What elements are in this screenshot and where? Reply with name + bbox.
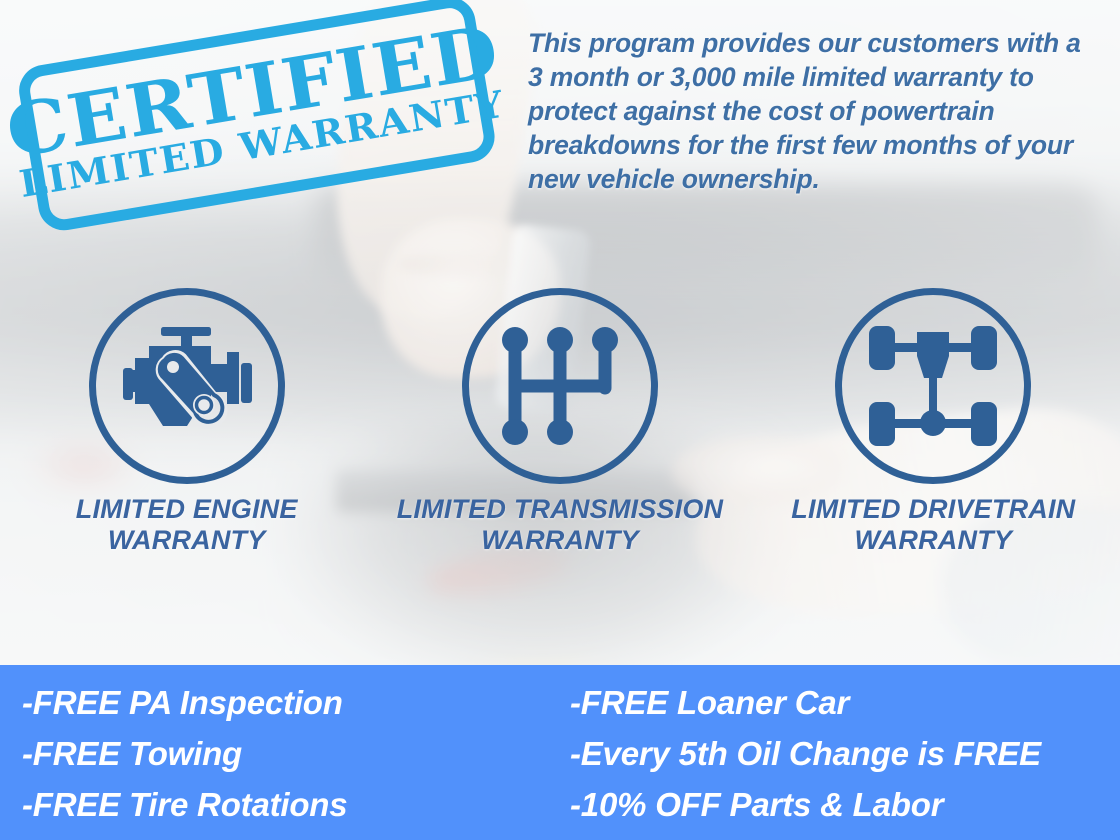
feature-drivetrain: LIMITED DRIVETRAIN WARRANTY bbox=[747, 288, 1120, 557]
perk-item: -FREE Tire Rotations bbox=[22, 782, 560, 829]
drivetrain-icon-circle bbox=[835, 288, 1031, 484]
feature-transmission: LIMITED TRANSMISSION WARRANTY bbox=[373, 288, 746, 557]
feature-list: LIMITED ENGINE WARRANTY bbox=[0, 288, 1120, 557]
perk-item: -10% OFF Parts & Labor bbox=[570, 782, 1120, 829]
perks-banner: -FREE PA Inspection -FREE Towing -FREE T… bbox=[0, 665, 1120, 840]
feature-engine: LIMITED ENGINE WARRANTY bbox=[0, 288, 373, 557]
perk-item: -Every 5th Oil Change is FREE bbox=[570, 731, 1120, 778]
transmission-icon-circle bbox=[462, 288, 658, 484]
gear-shifter-icon bbox=[495, 320, 625, 452]
perk-item: -FREE Towing bbox=[22, 731, 560, 778]
feature-drivetrain-label: LIMITED DRIVETRAIN WARRANTY bbox=[791, 494, 1075, 557]
perks-left-column: -FREE PA Inspection -FREE Towing -FREE T… bbox=[0, 679, 560, 830]
engine-icon bbox=[119, 321, 255, 451]
perks-right-column: -FREE Loaner Car -Every 5th Oil Change i… bbox=[560, 679, 1120, 830]
feature-transmission-label: LIMITED TRANSMISSION WARRANTY bbox=[397, 494, 724, 557]
warranty-poster: CERTIFIED LIMITED WARRANTY This program … bbox=[0, 0, 1120, 840]
perk-item: -FREE PA Inspection bbox=[22, 680, 560, 727]
feature-engine-label: LIMITED ENGINE WARRANTY bbox=[76, 494, 298, 557]
program-description: This program provides our customers with… bbox=[528, 26, 1088, 196]
engine-icon-circle bbox=[89, 288, 285, 484]
perk-item: -FREE Loaner Car bbox=[570, 680, 1120, 727]
drivetrain-icon bbox=[867, 322, 999, 450]
